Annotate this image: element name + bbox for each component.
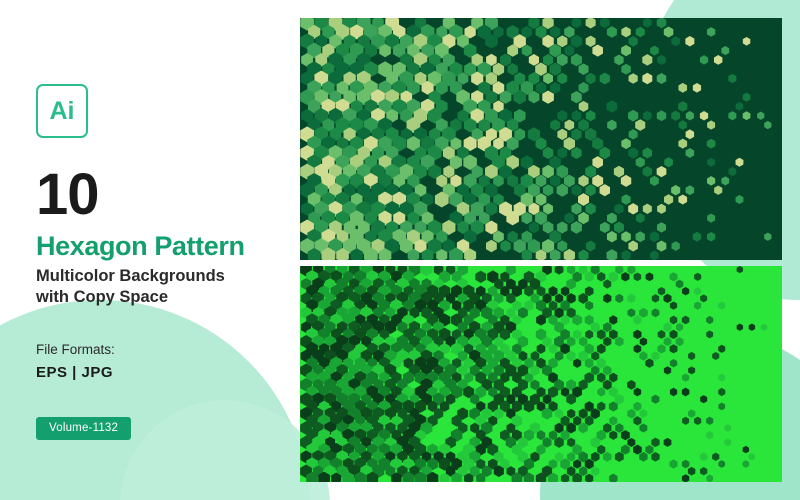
- page-subtitle-line-1: Multicolor Backgrounds: [36, 266, 276, 287]
- file-formats-value: EPS | JPG: [36, 364, 296, 381]
- info-column: Ai 10 Hexagon Pattern Multicolor Backgro…: [36, 84, 296, 440]
- bright-green-hexagon-svg: [300, 266, 782, 482]
- adobe-illustrator-badge: Ai: [36, 84, 88, 138]
- page-title: Hexagon Pattern: [36, 232, 296, 260]
- ai-badge-label: Ai: [50, 99, 75, 124]
- dark-green-hexagon-preview: [300, 18, 782, 260]
- dark-green-hexagon-svg: [300, 18, 782, 260]
- item-count: 10: [36, 166, 296, 224]
- page-subtitle-line-2: with Copy Space: [36, 287, 276, 308]
- bright-green-hexagon-preview: [300, 266, 782, 482]
- page-subtitle: Multicolor Backgrounds with Copy Space: [36, 266, 276, 307]
- file-formats-label: File Formats:: [36, 342, 296, 357]
- volume-badge: Volume-1132: [36, 417, 131, 440]
- preview-column: [300, 18, 782, 482]
- poster-canvas: Ai 10 Hexagon Pattern Multicolor Backgro…: [0, 0, 800, 500]
